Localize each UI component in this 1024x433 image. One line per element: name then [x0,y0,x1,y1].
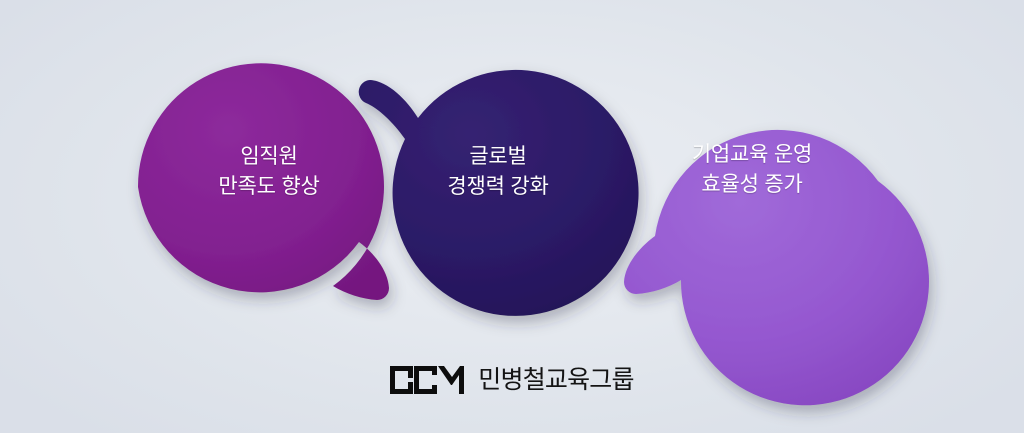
brand-logo[interactable]: 민병철교육그룹 [0,366,1024,394]
bcm-logomark-icon [390,366,464,394]
benefit-bubble-training-efficiency[interactable]: 기업교육 운영 효율성 증가 [612,48,892,314]
bubble-shape-3 [612,48,892,314]
slide-canvas: 임직원 만족도 향상 글로벌 경쟁력 강화 [0,0,1024,433]
brand-wordmark: 민병철교육그룹 [478,368,633,393]
benefit-bubble-global-competitiveness[interactable]: 글로벌 경쟁력 강화 [360,56,636,318]
bubble-shape-2 [360,56,636,318]
